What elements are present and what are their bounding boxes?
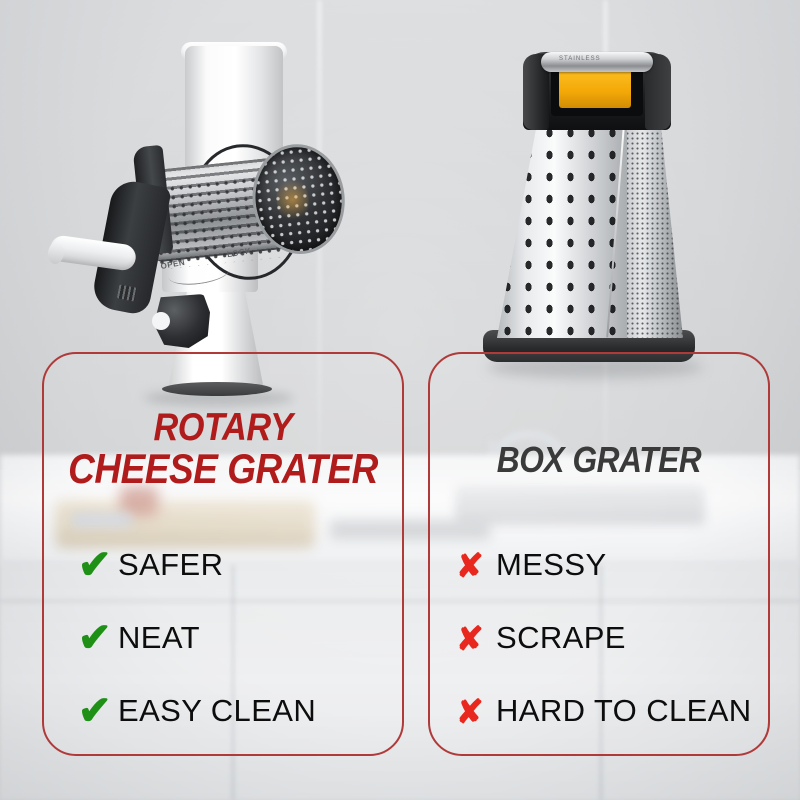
cross-icon: ✘ xyxy=(456,695,496,728)
feature-label: EASY CLEAN xyxy=(118,693,316,729)
list-item: ✔ SAFER xyxy=(44,540,402,590)
box-grater-comparison-card: BOX GRATER ✘ MESSY ✘ SCRAPE ✘ HARD TO CL… xyxy=(428,352,770,756)
grater-coarse-holes xyxy=(497,122,627,338)
title-line-1: BOX GRATER xyxy=(450,442,747,479)
check-icon: ✔ xyxy=(78,618,118,658)
cross-icon: ✘ xyxy=(456,549,496,582)
box-grater-card-title: BOX GRATER xyxy=(450,442,747,479)
feature-label: SAFER xyxy=(118,547,223,583)
feature-label: HARD TO CLEAN xyxy=(496,693,752,729)
check-icon: ✔ xyxy=(78,545,118,585)
list-item: ✘ HARD TO CLEAN xyxy=(430,686,768,736)
feature-label: NEAT xyxy=(118,620,200,656)
rotary-feature-list: ✔ SAFER ✔ NEAT ✔ EASY CLEAN xyxy=(44,540,402,759)
grater-handle-bar-text: STAINLESS xyxy=(559,56,601,62)
grater-yellow-accent xyxy=(559,68,631,108)
feature-label: MESSY xyxy=(496,547,607,583)
comparison-infographic: OPEN LOCK STAINLESS ROTARY CHEESE GRATER xyxy=(0,0,800,800)
box-grater-product-image: STAINLESS xyxy=(455,30,735,385)
cross-icon: ✘ xyxy=(456,622,496,655)
grater-handle-bar xyxy=(541,52,653,72)
list-item: ✔ EASY CLEAN xyxy=(44,686,402,736)
feature-label: SCRAPE xyxy=(496,620,626,656)
rotary-card-title: ROTARY CHEESE GRATER xyxy=(65,408,380,491)
lock-knob-dot xyxy=(152,312,170,330)
list-item: ✘ SCRAPE xyxy=(430,613,768,663)
rotary-comparison-card: ROTARY CHEESE GRATER ✔ SAFER ✔ NEAT ✔ EA… xyxy=(42,352,404,756)
title-line-2: CHEESE GRATER xyxy=(65,448,380,491)
title-line-1: ROTARY xyxy=(65,408,380,448)
check-icon: ✔ xyxy=(78,691,118,731)
list-item: ✘ MESSY xyxy=(430,540,768,590)
box-grater-feature-list: ✘ MESSY ✘ SCRAPE ✘ HARD TO CLEAN xyxy=(430,540,768,759)
list-item: ✔ NEAT xyxy=(44,613,402,663)
grater-fine-rasp-texture xyxy=(625,126,683,338)
rotary-grater-product-image: OPEN LOCK xyxy=(40,18,370,388)
